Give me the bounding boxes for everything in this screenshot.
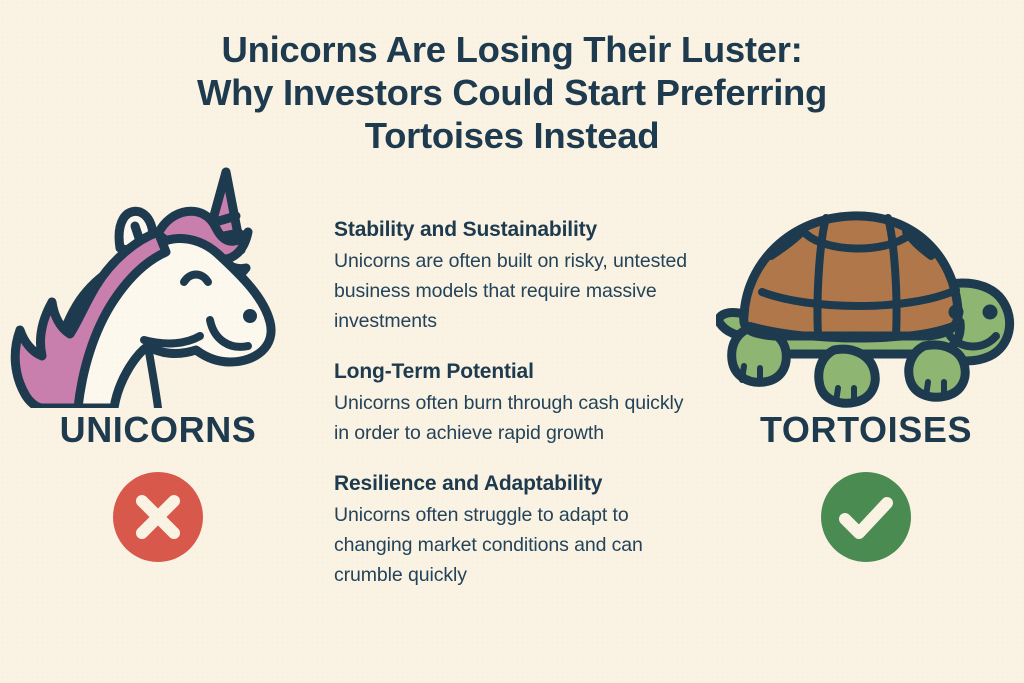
point-block: Stability and Sustainability Unicorns ar… bbox=[334, 216, 702, 336]
point-block: Long-Term Potential Unicorns often burn … bbox=[334, 358, 702, 448]
status-badge-positive bbox=[821, 472, 911, 562]
tortoise-label: TORTOISES bbox=[716, 410, 1016, 450]
tortoise-icon bbox=[716, 160, 1016, 408]
point-title: Long-Term Potential bbox=[334, 358, 702, 385]
title-line-2: Why Investors Could Start Preferring bbox=[50, 71, 974, 114]
point-title: Resilience and Adaptability bbox=[334, 470, 702, 497]
unicorn-label: UNICORNS bbox=[8, 410, 308, 450]
point-body: Unicorns are often built on risky, untes… bbox=[334, 246, 702, 336]
check-icon bbox=[821, 472, 911, 562]
unicorn-column: UNICORNS bbox=[8, 160, 308, 562]
title-line-3: Tortoises Instead bbox=[50, 114, 974, 157]
infographic-page: Unicorns Are Losing Their Luster: Why In… bbox=[0, 0, 1024, 683]
point-title: Stability and Sustainability bbox=[334, 216, 702, 243]
title-line-1: Unicorns Are Losing Their Luster: bbox=[50, 28, 974, 71]
point-body: Unicorns often struggle to adapt to chan… bbox=[334, 500, 702, 590]
status-badge-negative bbox=[113, 472, 203, 562]
tortoise-illustration bbox=[716, 160, 1016, 408]
unicorn-illustration bbox=[8, 160, 308, 408]
unicorn-icon bbox=[8, 160, 308, 408]
point-block: Resilience and Adaptability Unicorns oft… bbox=[334, 470, 702, 590]
page-title: Unicorns Are Losing Their Luster: Why In… bbox=[50, 28, 974, 157]
point-body: Unicorns often burn through cash quickly… bbox=[334, 388, 702, 448]
points-list: Stability and Sustainability Unicorns ar… bbox=[334, 216, 702, 590]
cross-icon bbox=[113, 472, 203, 562]
tortoise-column: TORTOISES bbox=[716, 160, 1016, 562]
